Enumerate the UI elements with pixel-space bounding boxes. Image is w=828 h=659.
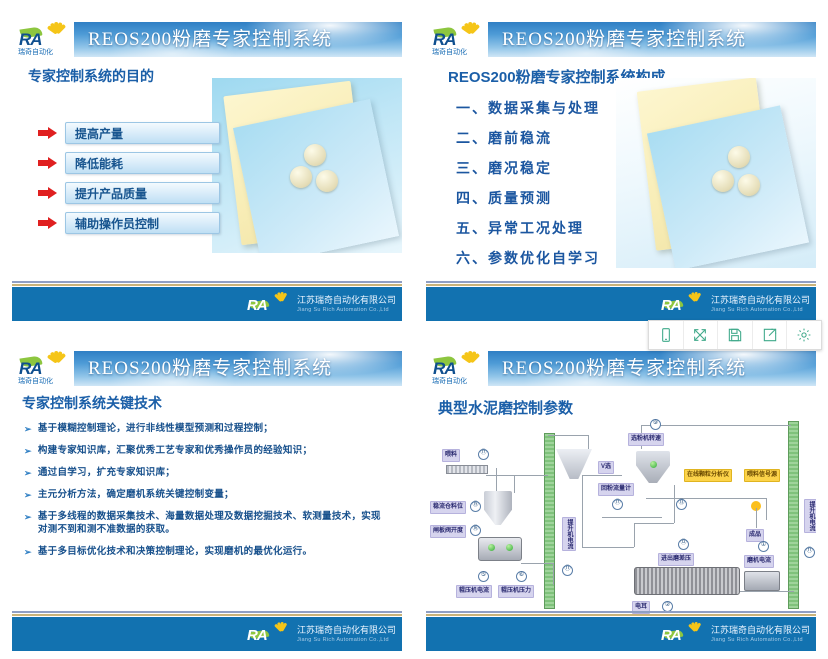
list-item-text: 构建专家知识库，汇聚优秀工艺专家和优秀操作员的经验知识；: [38, 445, 312, 458]
diagram-label-return-flowmeter: 回粉流量计: [598, 483, 634, 496]
list-item[interactable]: 六、参数优化自学习: [456, 248, 600, 268]
footer-company: 江苏瑞奇自动化有限公司 Jiang Su Rich Automation Co.…: [297, 295, 396, 314]
share-icon: [762, 327, 778, 343]
diagram-label-press-pressure: 辊压机压力: [498, 585, 534, 598]
goal-box-1[interactable]: 提高产量: [65, 122, 220, 144]
slide-3-footer: RA 江苏瑞奇自动化有限公司 Jiang Su Rich Automation …: [12, 611, 402, 651]
stable-flow-silo: [484, 491, 512, 525]
save-button[interactable]: [718, 321, 753, 349]
slide-1-header-title: REOS200粉磨专家控制系统: [88, 25, 398, 55]
footer-logo-mark: RA: [247, 621, 293, 647]
slide-3-header: RA 瑞奇自动化 REOS200粉磨专家控制系统: [12, 347, 402, 389]
settings-button[interactable]: [787, 321, 821, 349]
slide-2-canvas: RA 瑞奇自动化 REOS200粉磨专家控制系统 REOS200粉磨专家控制系统…: [426, 18, 816, 321]
diagram-label-elevator-current-left: 提升机电流: [562, 517, 576, 551]
company-logo: RA 瑞奇自动化: [432, 20, 488, 60]
company-logo: RA 瑞奇自动化: [18, 349, 74, 389]
arrow-icon: [38, 187, 58, 199]
diagram-label-product: 成品: [746, 529, 764, 542]
slide-4[interactable]: RA 瑞奇自动化 REOS200粉磨专家控制系统 典型水泥磨控制参数: [414, 329, 828, 659]
coin-icon: [290, 166, 312, 188]
footer-logo-mark: RA: [661, 621, 707, 647]
separator-indicator: [650, 461, 657, 468]
logo-mark: RA: [19, 359, 61, 379]
footer-company: 江苏瑞奇自动化有限公司 Jiang Su Rich Automation Co.…: [297, 625, 396, 644]
coin-icon: [304, 144, 326, 166]
diagram-num: ⑰: [612, 499, 623, 510]
company-logo: RA 瑞奇自动化: [18, 20, 74, 60]
cement-mill-diagram: ⑬ 喂料 ⑰ 稳流仓料位 ⑮ 闸板阀开度 ⑯ ⑤ 辊压机电流 ⑥ 辊压机压力 提…: [426, 413, 816, 609]
diagram-label-gate-valve: 闸板阀开度: [430, 525, 466, 538]
diagram-label-silo-level: 稳流仓料位: [430, 501, 466, 514]
footer-company-cn: 江苏瑞奇自动化有限公司: [711, 295, 810, 306]
slide-3-canvas: RA 瑞奇自动化 REOS200粉磨专家控制系统 专家控制系统关键技术 ➢ 基于…: [12, 347, 402, 651]
footer-logo-mark: RA: [247, 291, 293, 317]
ball-mill: [634, 567, 740, 595]
sun-rays-icon: [685, 291, 705, 304]
diagram-num: ①: [758, 541, 769, 552]
list-item[interactable]: ➢ 基于多目标优化技术和决策控制理论，实现磨机的最优化运行。: [24, 546, 390, 559]
diagram-num: ⑤: [478, 571, 489, 582]
slide-2[interactable]: RA 瑞奇自动化 REOS200粉磨专家控制系统 REOS200粉磨专家控制系统…: [414, 0, 828, 329]
bullet-arrow-icon: ➢: [24, 467, 32, 480]
logo-mark: RA: [433, 30, 475, 50]
list-item[interactable]: 三、磨况稳定: [456, 158, 600, 178]
save-icon: [727, 327, 743, 343]
slide-3[interactable]: RA 瑞奇自动化 REOS200粉磨专家控制系统 专家控制系统关键技术 ➢ 基于…: [0, 329, 414, 659]
expand-icon: [692, 327, 708, 343]
sun-rays-icon: [685, 621, 705, 634]
diagram-label-feed: 喂料: [442, 449, 460, 462]
logo-subtext: 瑞奇自动化: [18, 377, 72, 387]
footer-company-en: Jiang Su Rich Automation Co.,Ltd: [711, 636, 810, 644]
slide-2-footer: RA 江苏瑞奇自动化有限公司 Jiang Su Rich Automation …: [426, 281, 816, 321]
logo-mark: RA: [661, 297, 681, 315]
list-item-text: 基于多目标优化技术和决策控制理论，实现磨机的最优化运行。: [38, 546, 312, 559]
diagram-num: ⑪: [562, 565, 573, 576]
slide-1-title: 专家控制系统的目的: [28, 66, 154, 86]
diagram-label-feed-signal: 喂料信号源: [744, 469, 780, 482]
mobile-icon: [658, 327, 674, 343]
logo-mark: RA: [661, 627, 681, 645]
diagram-label-v-separator: V选: [598, 461, 614, 474]
logo-subtext: 瑞奇自动化: [432, 48, 486, 58]
diagram-num: ⑯: [470, 525, 481, 536]
goal-row-4[interactable]: 辅助操作员控制: [38, 212, 220, 234]
footer-company-cn: 江苏瑞奇自动化有限公司: [297, 295, 396, 306]
goal-box-2[interactable]: 降低能耗: [65, 152, 220, 174]
slide-2-header-title: REOS200粉磨专家控制系统: [502, 25, 812, 55]
logo-subtext: 瑞奇自动化: [18, 48, 72, 58]
gear-icon: [796, 327, 812, 343]
arrow-icon: [38, 217, 58, 229]
footer-company-cn: 江苏瑞奇自动化有限公司: [711, 625, 810, 636]
coin-icon: [712, 170, 734, 192]
footer-logo: RA 江苏瑞奇自动化有限公司 Jiang Su Rich Automation …: [661, 291, 810, 317]
list-item[interactable]: ➢ 构建专家知识库，汇聚优秀工艺专家和优秀操作员的经验知识；: [24, 445, 390, 458]
footer-rule-blue: [12, 281, 402, 283]
mill-motor: [744, 571, 780, 591]
goal-box-4[interactable]: 辅助操作员控制: [65, 212, 220, 234]
goal-row-1[interactable]: 提高产量: [38, 122, 220, 144]
footer-rule-blue: [12, 611, 402, 613]
company-logo: RA 瑞奇自动化: [432, 349, 488, 389]
footer-company-cn: 江苏瑞奇自动化有限公司: [297, 625, 396, 636]
footer-rule-blue: [426, 281, 816, 283]
slide-4-header: RA 瑞奇自动化 REOS200粉磨专家控制系统: [426, 347, 816, 389]
slide-1-header: RA 瑞奇自动化 REOS200粉磨专家控制系统: [12, 18, 402, 60]
coin-icon: [728, 146, 750, 168]
floating-toolbar[interactable]: [648, 320, 822, 350]
slide-1-photo: [212, 78, 402, 253]
feeder-equipment: [446, 465, 488, 474]
list-item[interactable]: ➢ 基于多线程的数据采集技术、海量数据处理及数据挖掘技术、软测量技术，实现对测不…: [24, 511, 390, 537]
list-item[interactable]: ➢ 主元分析方法，确定磨机系统关键控制变量；: [24, 489, 390, 502]
logo-mark: RA: [247, 297, 267, 315]
list-item-text: 基于模糊控制理论，进行非线性模型预测和过程控制；: [38, 423, 273, 436]
list-item-text: 通过自学习，扩充专家知识库；: [38, 467, 175, 480]
list-item[interactable]: 二、磨前稳流: [456, 128, 600, 148]
footer-rule-blue: [426, 611, 816, 613]
arrow-icon: [38, 127, 58, 139]
slide-3-title: 专家控制系统关键技术: [22, 393, 162, 413]
slide-2-header: RA 瑞奇自动化 REOS200粉磨专家控制系统: [426, 18, 816, 60]
diagram-label-particle-analyzer: 在线颗粒分析仪: [684, 469, 732, 482]
list-item-text: 主元分析方法，确定磨机系统关键控制变量；: [38, 489, 234, 502]
logo-subtext: 瑞奇自动化: [432, 377, 486, 387]
coin-icon: [316, 170, 338, 192]
diagram-num: ⑫: [678, 539, 689, 550]
goal-row-2[interactable]: 降低能耗: [38, 152, 220, 174]
footer-rule-gold: [12, 614, 402, 616]
coin-icon: [738, 174, 760, 196]
list-item[interactable]: 五、异常工况处理: [456, 218, 600, 238]
diagram-label-elevator-current-right: 提升机电流: [804, 499, 816, 533]
diagram-label-mill-current: 磨机电流: [744, 555, 774, 568]
slide-4-header-title: REOS200粉磨专家控制系统: [502, 354, 812, 384]
footer-logo-mark: RA: [661, 291, 707, 317]
logo-mark: RA: [19, 30, 61, 50]
goal-box-3[interactable]: 提升产品质量: [65, 182, 220, 204]
diagram-num: ⑪: [804, 547, 815, 558]
footer-rule-gold: [12, 284, 402, 286]
roller-indicator: [488, 544, 495, 551]
footer-company: 江苏瑞奇自动化有限公司 Jiang Su Rich Automation Co.…: [711, 295, 810, 314]
logo-mark: RA: [433, 359, 475, 379]
bullet-arrow-icon: ➢: [24, 546, 32, 559]
bullet-arrow-icon: ➢: [24, 511, 32, 524]
footer-logo: RA 江苏瑞奇自动化有限公司 Jiang Su Rich Automation …: [661, 621, 810, 647]
diagram-label-separator-speed: 选粉机转速: [628, 433, 664, 446]
bullet-arrow-icon: ➢: [24, 445, 32, 458]
sun-rays-icon: [271, 621, 291, 634]
roller-press: [478, 537, 522, 561]
list-item[interactable]: ➢ 通过自学习，扩充专家知识库；: [24, 467, 390, 480]
arrow-icon: [38, 157, 58, 169]
slide-4-canvas: RA 瑞奇自动化 REOS200粉磨专家控制系统 典型水泥磨控制参数: [426, 347, 816, 651]
bullet-arrow-icon: ➢: [24, 489, 32, 502]
diagram-label-press-current: 辊压机电流: [456, 585, 492, 598]
list-item[interactable]: ➢ 基于模糊控制理论，进行非线性模型预测和过程控制；: [24, 423, 390, 436]
slide-1-footer: RA 江苏瑞奇自动化有限公司 Jiang Su Rich Automation …: [12, 281, 402, 321]
diagram-num: ⑥: [516, 571, 527, 582]
bullet-arrow-icon: ➢: [24, 423, 32, 436]
slide-1-canvas: RA 瑞奇自动化 REOS200粉磨专家控制系统 专家控制系统的目的 提高产量 …: [12, 18, 402, 321]
footer-rule-gold: [426, 284, 816, 286]
key-tech-list: ➢ 基于模糊控制理论，进行非线性模型预测和过程控制； ➢ 构建专家知识库，汇聚优…: [24, 423, 390, 568]
diagram-num: ⑰: [478, 449, 489, 460]
footer-company-en: Jiang Su Rich Automation Co.,Ltd: [297, 636, 396, 644]
composition-list: 一、数据采集与处理 二、磨前稳流 三、磨况稳定 四、质量预测 五、异常工况处理 …: [456, 98, 600, 278]
share-button[interactable]: [753, 321, 788, 349]
slide-3-header-title: REOS200粉磨专家控制系统: [88, 354, 398, 384]
diagram-label-mill-dp: 进出磨差压: [658, 553, 694, 566]
roller-indicator: [506, 544, 513, 551]
diagram-num: ⑮: [470, 501, 481, 512]
footer-logo: RA 江苏瑞奇自动化有限公司 Jiang Su Rich Automation …: [247, 621, 396, 647]
elevator-right: [788, 421, 799, 609]
sun-rays-icon: [271, 291, 291, 304]
slide-4-footer: RA 江苏瑞奇自动化有限公司 Jiang Su Rich Automation …: [426, 611, 816, 651]
list-item-text: 基于多线程的数据采集技术、海量数据处理及数据挖掘技术、软测量技术，实现对测不到和…: [38, 511, 390, 537]
footer-company: 江苏瑞奇自动化有限公司 Jiang Su Rich Automation Co.…: [711, 625, 810, 644]
list-item[interactable]: 四、质量预测: [456, 188, 600, 208]
analyzer-node: ⑬: [676, 499, 687, 510]
footer-company-en: Jiang Su Rich Automation Co.,Ltd: [711, 306, 810, 314]
footer-rule-gold: [426, 614, 816, 616]
list-item[interactable]: 一、数据采集与处理: [456, 98, 600, 118]
diagram-num: ⑨: [650, 419, 661, 430]
slide-2-photo: [616, 78, 816, 268]
goal-row-3[interactable]: 提升产品质量: [38, 182, 220, 204]
slide-1[interactable]: RA 瑞奇自动化 REOS200粉磨专家控制系统 专家控制系统的目的 提高产量 …: [0, 0, 414, 329]
mobile-view-button[interactable]: [649, 321, 684, 349]
logo-mark: RA: [247, 627, 267, 645]
footer-logo: RA 江苏瑞奇自动化有限公司 Jiang Su Rich Automation …: [247, 291, 396, 317]
footer-company-en: Jiang Su Rich Automation Co.,Ltd: [297, 306, 396, 314]
fullscreen-button[interactable]: [684, 321, 719, 349]
